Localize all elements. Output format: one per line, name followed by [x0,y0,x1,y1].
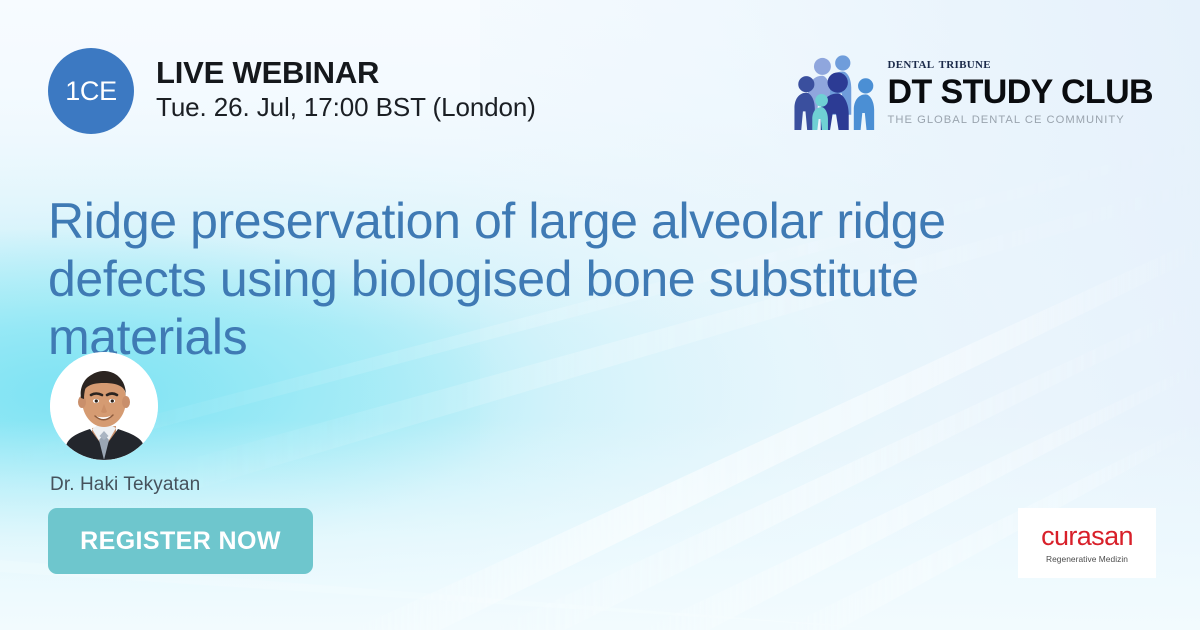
webinar-datetime: Tue. 26. Jul, 17:00 BST (London) [156,92,536,124]
webinar-banner: 1CE LIVE WEBINAR Tue. 26. Jul, 17:00 BST… [0,0,1200,630]
presenter-avatar [50,352,158,460]
presenter-name: Dr. Haki Tekyatan [50,474,200,496]
presenter-block: Dr. Haki Tekyatan [50,352,200,496]
brand-wordmark: Dental Tribune DT STUDY CLUB THE GLOBAL … [888,56,1153,126]
dt-study-club-logo: Dental Tribune DT STUDY CLUB THE GLOBAL … [793,52,1153,130]
ce-credit-badge: 1CE [48,48,134,134]
live-webinar-label: LIVE WEBINAR [156,56,536,89]
header: 1CE LIVE WEBINAR Tue. 26. Jul, 17:00 BST… [48,48,536,134]
sponsor-logo-curasan: curasan Regenerative Medizin [1018,508,1156,578]
register-now-button[interactable]: REGISTER NOW [48,508,313,574]
brand-name: DT STUDY CLUB [888,75,1153,110]
page-title: Ridge preservation of large alveolar rid… [48,192,1048,366]
register-now-label: REGISTER NOW [80,529,281,554]
sponsor-name: curasan [1041,523,1133,550]
brand-tagline: THE GLOBAL DENTAL CE COMMUNITY [888,115,1153,126]
ce-credit-label: 1CE [65,78,117,105]
sponsor-tagline: Regenerative Medizin [1046,555,1128,563]
brand-publisher: Dental Tribune [888,56,1153,72]
people-group-icon [793,52,879,130]
header-text-block: LIVE WEBINAR Tue. 26. Jul, 17:00 BST (Lo… [156,56,536,125]
